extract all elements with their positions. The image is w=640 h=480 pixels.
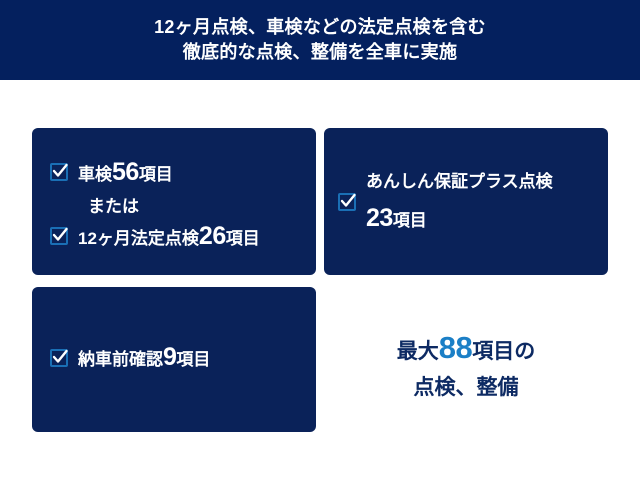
checkbox-checked-icon (50, 349, 68, 367)
card-anshin-line-1: あんしん保証プラス点検 (366, 172, 553, 191)
card-shaken-row-2: または (50, 188, 306, 220)
summary-prefix: 最大 (397, 340, 439, 363)
card-anshin-lines: あんしん保証プラス点検 23項目 (366, 164, 598, 239)
card-anshin-warranty-plus: あんしん保証プラス点検 23項目 (324, 128, 608, 275)
inspection-summary-page: 12ヶ月点検、車検などの法定点検を含む 徹底的な点検、整備を全車に実施 車検56… (0, 0, 640, 480)
card-pre-delivery-body: 納車前確認9項目 (50, 343, 306, 372)
card-anshin-body: あんしん保証プラス点検 23項目 (338, 164, 598, 239)
summary-total: 最大88項目の 点検、整備 (324, 330, 608, 406)
summary-number: 88 (439, 330, 472, 365)
card-shaken-row-1-suffix: 項目 (139, 165, 173, 184)
card-shaken-row-1-prefix: 車検 (78, 165, 112, 184)
card-anshin-line-2: 23項目 (366, 211, 427, 230)
summary-line-1: 最大88項目の (324, 330, 608, 370)
card-pre-delivery-text: 納車前確認9項目 (78, 343, 210, 372)
summary-line-2: 点検、整備 (324, 370, 608, 406)
card-shaken-row-1-text: 車検56項目 (78, 158, 173, 187)
card-shaken-inspection: 車検56項目 または 12ヶ月法定点検26項目 (32, 128, 316, 275)
checkbox-checked-icon (50, 227, 68, 245)
card-shaken-row-3: 12ヶ月法定点検26項目 (50, 220, 306, 252)
header-line-2: 徹底的な点検、整備を全車に実施 (183, 40, 458, 65)
card-pre-delivery-suffix: 項目 (176, 350, 210, 369)
header-line-1: 12ヶ月点検、車検などの法定点検を含む (154, 15, 486, 40)
card-shaken-row-3-text: 12ヶ月法定点検26項目 (78, 222, 260, 251)
card-shaken-body: 車検56項目 または 12ヶ月法定点検26項目 (50, 156, 306, 252)
card-shaken-row-2-text: または (88, 192, 139, 217)
header-banner: 12ヶ月点検、車検などの法定点検を含む 徹底的な点検、整備を全車に実施 (0, 0, 640, 80)
summary-suffix: 項目の (472, 340, 535, 363)
card-shaken-row-3-prefix: 12ヶ月法定点検 (78, 229, 199, 248)
checkbox-checked-icon (338, 193, 356, 211)
card-pre-delivery-number: 9 (163, 343, 176, 371)
card-anshin-suffix: 項目 (393, 211, 427, 230)
checkbox-checked-icon (50, 163, 68, 181)
card-shaken-row-1: 車検56項目 (50, 156, 306, 188)
card-shaken-row-3-suffix: 項目 (226, 229, 260, 248)
card-pre-delivery-check: 納車前確認9項目 (32, 287, 316, 432)
card-shaken-row-1-number: 56 (112, 158, 139, 186)
card-pre-delivery-prefix: 納車前確認 (78, 350, 163, 369)
card-shaken-row-3-number: 26 (199, 222, 226, 250)
card-anshin-number: 23 (366, 204, 393, 232)
